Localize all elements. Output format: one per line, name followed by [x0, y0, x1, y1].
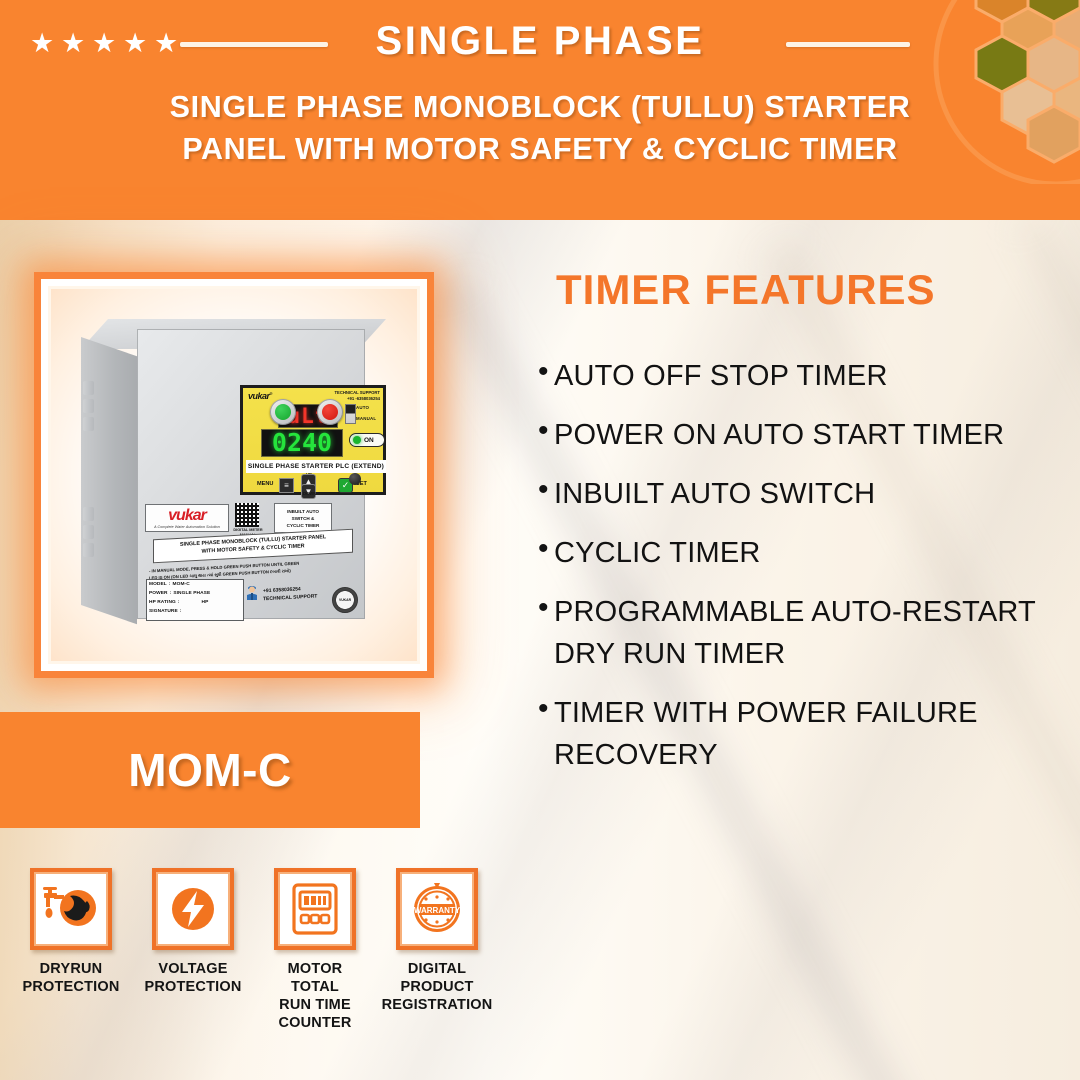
green-start-button[interactable]	[270, 399, 296, 425]
list-item: • INBUILT AUTO SWITCH	[538, 473, 1058, 515]
quality-seal-icon: VUKAR	[332, 587, 358, 613]
spec-key: SIGNATURE	[149, 609, 178, 614]
hinge-icon	[83, 525, 94, 539]
auto-manual-switch[interactable]	[345, 404, 356, 424]
benefit-run-time-counter: MOTOR TOTAL RUN TIME COUNTER	[262, 868, 368, 1032]
door-lock-knob[interactable]	[349, 473, 361, 485]
red-stop-button[interactable]	[317, 399, 343, 425]
menu-button[interactable]: ≡	[279, 478, 294, 493]
brand-tagline: A Complete Water Automation Solution	[146, 525, 228, 529]
inbuilt-feature-sticker: INBUILT AUTO SWITCH & CYCLIC TIMER	[274, 503, 332, 533]
product-infographic: ★ ★ ★ ★ ★ SINGLE PHASE SINGLE PHASE MONO…	[0, 0, 1080, 1080]
benefit-product-registration: WARRANTY DIGITAL PRODUCT REGISTRATION	[384, 868, 490, 1032]
spec-key: POWER	[149, 591, 168, 596]
bullet-icon: •	[538, 355, 554, 389]
feature-text: CYCLIC TIMER	[554, 532, 761, 574]
bullet-icon: •	[538, 532, 554, 566]
features-heading: TIMER FEATURES	[556, 266, 936, 314]
table-row: POWER : SINGLE PHASE	[147, 589, 243, 598]
spec-value: MOM-C	[173, 582, 190, 587]
spec-sep: :	[169, 582, 171, 587]
benefit-icon-box	[152, 868, 234, 950]
benefit-icon-inner	[34, 872, 108, 946]
digital-meter-icon	[289, 882, 341, 936]
benefit-icon-inner	[278, 872, 352, 946]
benefit-icons-row: DRYRUN PROTECTION VOLTAGE PROTECTION	[18, 868, 518, 1032]
model-name: MOM-C	[128, 743, 291, 797]
benefit-dryrun-protection: DRYRUN PROTECTION	[18, 868, 124, 1032]
control-plate: vukar® TECHNICAL SUPPORT +91 -6358036254…	[240, 385, 386, 495]
feature-text: INBUILT AUTO SWITCH	[554, 473, 875, 515]
spec-sep: :	[170, 591, 172, 596]
spec-key: MODEL	[149, 582, 167, 587]
model-banner: MOM-C	[0, 712, 420, 828]
hinge-icon	[83, 381, 94, 395]
bullet-icon: •	[538, 692, 554, 726]
list-item: • CYCLIC TIMER	[538, 532, 1058, 574]
features-list: • AUTO OFF STOP TIMER • POWER ON AUTO ST…	[538, 355, 1058, 793]
product-name-band: SINGLE PHASE MONOBLOCK (TULLU) STARTER P…	[153, 529, 353, 563]
feature-text: POWER ON AUTO START TIMER	[554, 414, 1004, 456]
status-led-label: ON	[364, 437, 374, 444]
enclosure-front-door: vukar® TECHNICAL SUPPORT +91 -6358036254…	[137, 329, 365, 619]
spec-sep: :	[180, 609, 182, 614]
hinge-icon	[83, 543, 94, 557]
red-lens-icon	[322, 404, 338, 420]
display-value: 0240	[261, 429, 343, 457]
svg-text:WARRANTY: WARRANTY	[414, 906, 461, 915]
down-key-label: DOWN	[303, 491, 316, 496]
bullet-icon: •	[538, 473, 554, 507]
status-led-indicator: ON	[349, 433, 385, 447]
header-banner: ★ ★ ★ ★ ★ SINGLE PHASE SINGLE PHASE MONO…	[0, 0, 1080, 220]
benefit-label: DRYRUN PROTECTION	[22, 960, 119, 996]
hinge-icon	[83, 507, 94, 521]
header-subtitle-line2: PANEL WITH MOTOR SAFETY & CYCLIC TIMER	[0, 128, 1080, 170]
benefit-icon-box	[274, 868, 356, 950]
benefit-icon-inner	[156, 872, 230, 946]
list-item: • TIMER WITH POWER FAILURE RECOVERY	[538, 692, 1058, 776]
benefit-voltage-protection: VOLTAGE PROTECTION	[140, 868, 246, 1032]
brand-sticker: vukar A Complete Water Automation Soluti…	[145, 504, 229, 532]
feature-text: AUTO OFF STOP TIMER	[554, 355, 888, 397]
control-plate-face: vukar® TECHNICAL SUPPORT +91 -6358036254…	[243, 388, 383, 492]
header-subtitle: SINGLE PHASE MONOBLOCK (TULLU) STARTER P…	[0, 86, 1080, 170]
benefit-icon-box: WARRANTY	[396, 868, 478, 950]
benefit-label: MOTOR TOTAL RUN TIME COUNTER	[278, 960, 351, 1032]
list-item: • PROGRAMMABLE AUTO-RESTART DRY RUN TIME…	[538, 591, 1058, 675]
header-subtitle-line1: SINGLE PHASE MONOBLOCK (TULLU) STARTER	[0, 86, 1080, 128]
benefit-label: VOLTAGE PROTECTION	[144, 960, 241, 996]
brand-logo-text: vukar	[146, 507, 228, 525]
table-row: HP RATING : HP	[147, 598, 243, 607]
table-row: SIGNATURE :	[147, 607, 243, 616]
qr-code-icon	[235, 503, 259, 527]
panel-brand-label: vukar®	[248, 391, 272, 401]
spec-key: HP RATING	[149, 600, 176, 605]
green-lens-icon	[275, 404, 291, 420]
list-item: • AUTO OFF STOP TIMER	[538, 355, 1058, 397]
keypad: MENU ≡ UP ▲ ▼ DOWN ✓ SET	[246, 473, 386, 495]
feature-text: PROGRAMMABLE AUTO-RESTART DRY RUN TIMER	[554, 591, 1058, 675]
product-image-frame: vukar® TECHNICAL SUPPORT +91 -6358036254…	[34, 272, 434, 678]
hinge-icon	[83, 417, 94, 431]
lightning-bolt-icon	[167, 883, 219, 935]
benefit-icon-box	[30, 868, 112, 950]
spec-table: MODEL : MOM-C POWER : SINGLE PHASE HP RA…	[146, 579, 244, 621]
warranty-badge-icon: WARRANTY	[410, 882, 464, 936]
manual-label: MANUAL	[356, 416, 376, 421]
hinge-icon	[83, 399, 94, 413]
display-value-number: 0240	[262, 430, 342, 456]
inbuilt-feature-text: INBUILT AUTO SWITCH & CYCLIC TIMER	[287, 508, 320, 529]
auto-label: AUTO	[356, 405, 369, 410]
table-row: MODEL : MOM-C	[147, 580, 243, 589]
plc-title-bar: SINGLE PHASE STARTER PLC (EXTEND)	[246, 460, 386, 473]
tap-globe-icon	[42, 885, 100, 933]
plc-title: SINGLE PHASE STARTER PLC (EXTEND)	[248, 463, 384, 470]
spec-sep: :	[178, 600, 180, 605]
benefit-label: DIGITAL PRODUCT REGISTRATION	[382, 960, 493, 1014]
bullet-icon: •	[538, 591, 554, 625]
list-item: • POWER ON AUTO START TIMER	[538, 414, 1058, 456]
menu-key-label: MENU	[257, 481, 273, 487]
benefit-icon-inner: WARRANTY	[400, 872, 474, 946]
bullet-icon: •	[538, 414, 554, 448]
spec-value: SINGLE PHASE	[173, 591, 210, 596]
feature-text: TIMER WITH POWER FAILURE RECOVERY	[554, 692, 1058, 776]
header-eyebrow: SINGLE PHASE	[0, 19, 1080, 64]
led-dot-icon	[353, 436, 361, 444]
product-image: vukar® TECHNICAL SUPPORT +91 -6358036254…	[48, 286, 420, 664]
panel-tech-support: TECHNICAL SUPPORT +91 -6358036254	[334, 390, 380, 402]
support-agent-icon	[245, 584, 259, 600]
spec-value: HP	[202, 600, 209, 605]
